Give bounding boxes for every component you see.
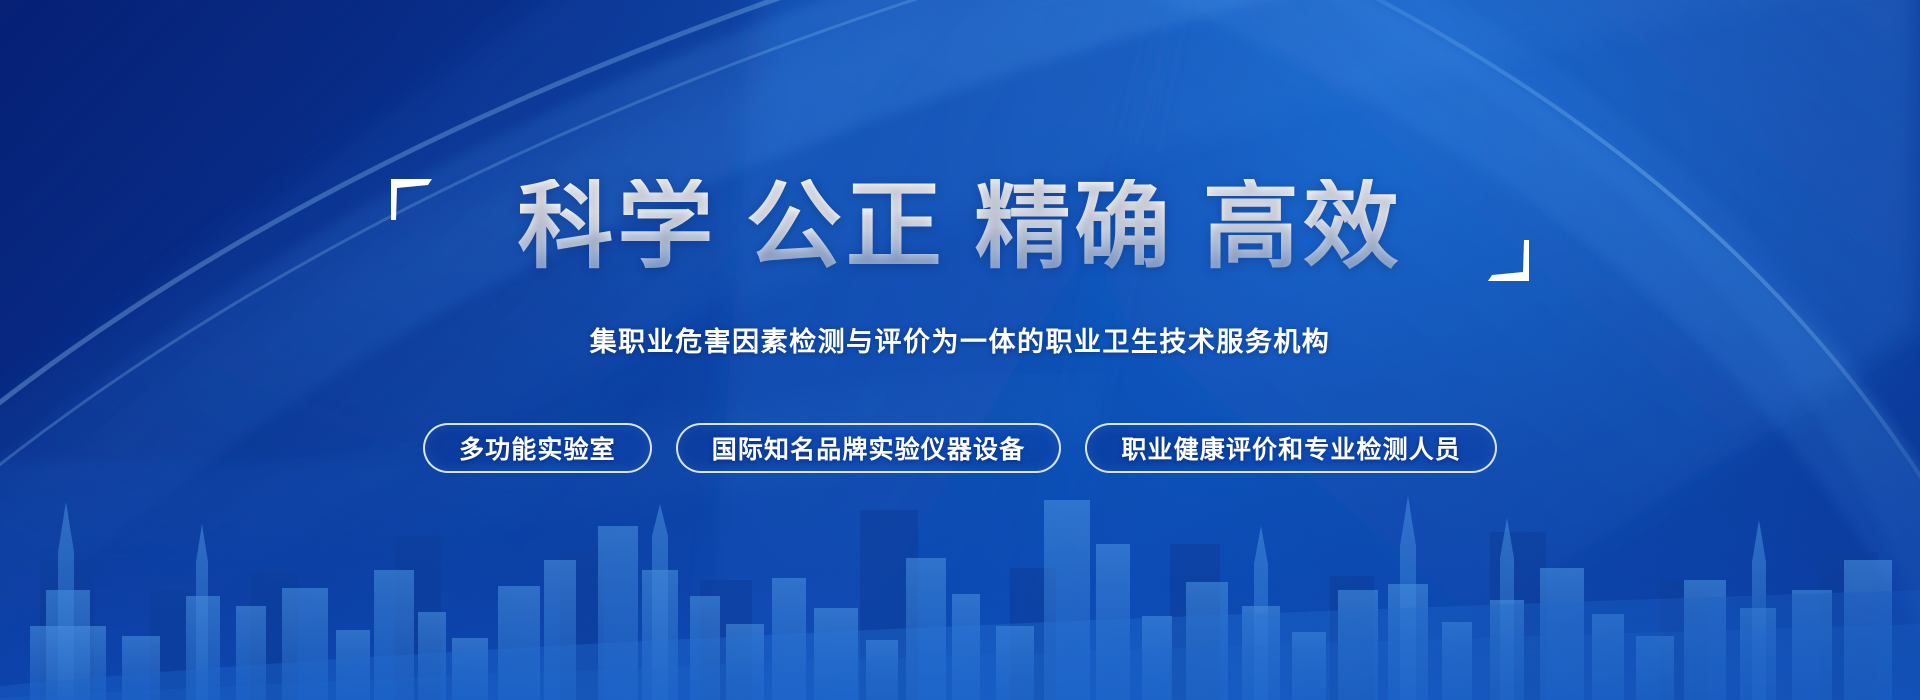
feature-pill-personnel[interactable]: 职业健康评价和专业检测人员: [1085, 423, 1497, 473]
headline-word-2: 公正: [746, 173, 946, 280]
banner-subtitle: 集职业危害因素检测与评价为一体的职业卫生技术服务机构: [590, 320, 1331, 359]
corner-bracket-open-icon: [388, 176, 434, 222]
feature-pill-list: 多功能实验室 国际知名品牌实验仪器设备 职业健康评价和专业检测人员: [423, 423, 1497, 473]
feature-pill-equipment[interactable]: 国际知名品牌实验仪器设备: [676, 423, 1062, 473]
feature-pill-laboratory[interactable]: 多功能实验室: [423, 423, 652, 473]
headline-block: 科学公正精确高效: [370, 168, 1550, 286]
page-title: 科学公正精确高效: [517, 179, 1402, 275]
headline-word-1: 科学: [517, 173, 717, 280]
banner-content: 科学公正精确高效 集职业危害因素检测与评价为一体的职业卫生技术服务机构 多功能实…: [0, 0, 1920, 700]
promotional-banner: 科学公正精确高效 集职业危害因素检测与评价为一体的职业卫生技术服务机构 多功能实…: [0, 0, 1920, 700]
corner-bracket-close-icon: [1486, 238, 1532, 284]
feature-pill-label: 多功能实验室: [459, 430, 616, 466]
headline-word-4: 高效: [1203, 173, 1403, 280]
headline-word-3: 精确: [974, 173, 1174, 280]
feature-pill-label: 职业健康评价和专业检测人员: [1121, 430, 1461, 466]
feature-pill-label: 国际知名品牌实验仪器设备: [712, 430, 1026, 466]
